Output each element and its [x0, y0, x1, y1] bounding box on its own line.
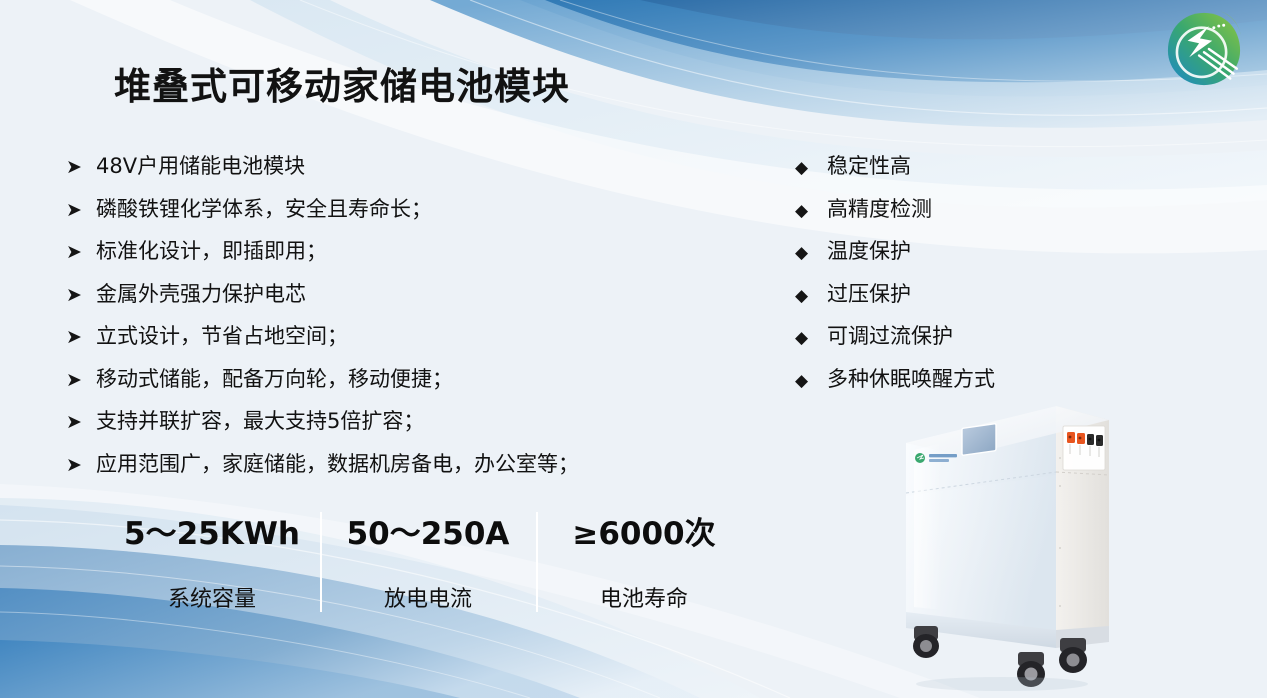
diamond-bullet-icon: ◆ — [795, 203, 827, 220]
list-item-label: 立式设计，节省占地空间； — [96, 320, 348, 350]
list-item: ➤ 标准化设计，即插即用； — [66, 235, 726, 278]
list-item-label: 金属外壳强力保护电芯 — [96, 278, 306, 308]
diamond-bullet-icon: ◆ — [795, 160, 827, 177]
list-item-label: 支持并联扩容，最大支持5倍扩容； — [96, 405, 424, 435]
list-item-label: 过压保护 — [827, 278, 911, 308]
spec-value: 5〜25KWh — [124, 508, 300, 553]
list-item: ➤ 应用范围广，家庭储能，数据机房备电，办公室等； — [66, 448, 726, 491]
arrow-bullet-icon: ➤ — [66, 201, 96, 220]
list-item: ◆ 过压保护 — [795, 278, 1125, 321]
list-item: ➤ 金属外壳强力保护电芯 — [66, 278, 726, 321]
spec-label: 放电电流 — [384, 581, 472, 613]
spec-value: ≥6000次 — [572, 508, 715, 553]
list-item-label: 标准化设计，即插即用； — [96, 235, 327, 265]
slide-canvas: 堆叠式可移动家储电池模块 ➤ 48V户用储能电池模块 ➤ 磷酸铁锂化学体系，安全… — [0, 0, 1267, 698]
diamond-bullet-icon: ◆ — [795, 288, 827, 305]
list-item-label: 移动式储能，配备万向轮，移动便捷； — [96, 363, 453, 393]
diamond-bullet-icon: ◆ — [795, 330, 827, 347]
list-item: ◆ 温度保护 — [795, 235, 1125, 278]
list-item: ➤ 48V户用储能电池模块 — [66, 150, 726, 193]
spec-value: 50〜250A — [347, 508, 510, 553]
arrow-bullet-icon: ➤ — [66, 456, 96, 475]
list-item-label: 稳定性高 — [827, 150, 911, 180]
list-item: ◆ 可调过流保护 — [795, 320, 1125, 363]
list-item-label: 应用范围广，家庭储能，数据机房备电，办公室等； — [96, 448, 579, 478]
list-item: ➤ 移动式储能，配备万向轮，移动便捷； — [66, 363, 726, 406]
right-feature-list: ◆ 稳定性高 ◆ 高精度检测 ◆ 温度保护 ◆ 过压保护 ◆ 可调过流保护 ◆ … — [795, 150, 1125, 405]
list-item: ◆ 稳定性高 — [795, 150, 1125, 193]
spec-label: 电池寿命 — [600, 581, 688, 613]
product-photo — [872, 398, 1154, 692]
arrow-bullet-icon: ➤ — [66, 158, 96, 177]
diamond-bullet-icon: ◆ — [795, 373, 827, 390]
arrow-bullet-icon: ➤ — [66, 243, 96, 262]
list-item: ➤ 立式设计，节省占地空间； — [66, 320, 726, 363]
company-logo — [1163, 8, 1245, 90]
arrow-bullet-icon: ➤ — [66, 371, 96, 390]
list-item-label: 48V户用储能电池模块 — [96, 150, 305, 180]
spec-label: 系统容量 — [168, 581, 256, 613]
diamond-bullet-icon: ◆ — [795, 245, 827, 262]
list-item: ◆ 高精度检测 — [795, 193, 1125, 236]
spec-capacity: 5〜25KWh 系统容量 — [104, 508, 320, 616]
left-feature-list: ➤ 48V户用储能电池模块 ➤ 磷酸铁锂化学体系，安全且寿命长； ➤ 标准化设计… — [66, 150, 726, 490]
list-item-label: 磷酸铁锂化学体系，安全且寿命长； — [96, 193, 432, 223]
list-item-label: 温度保护 — [827, 235, 911, 265]
list-item-label: 可调过流保护 — [827, 320, 953, 350]
spec-current: 50〜250A 放电电流 — [320, 508, 536, 616]
arrow-bullet-icon: ➤ — [66, 286, 96, 305]
list-item-label: 高精度检测 — [827, 193, 932, 223]
list-item: ➤ 磷酸铁锂化学体系，安全且寿命长； — [66, 193, 726, 236]
page-title: 堆叠式可移动家储电池模块 — [114, 56, 570, 110]
arrow-bullet-icon: ➤ — [66, 413, 96, 432]
spec-highlights: 5〜25KWh 系统容量 50〜250A 放电电流 ≥6000次 电池寿命 — [104, 508, 752, 616]
list-item-label: 多种休眠唤醒方式 — [827, 363, 995, 393]
arrow-bullet-icon: ➤ — [66, 328, 96, 347]
list-item: ➤ 支持并联扩容，最大支持5倍扩容； — [66, 405, 726, 448]
spec-cycle-life: ≥6000次 电池寿命 — [536, 508, 752, 616]
